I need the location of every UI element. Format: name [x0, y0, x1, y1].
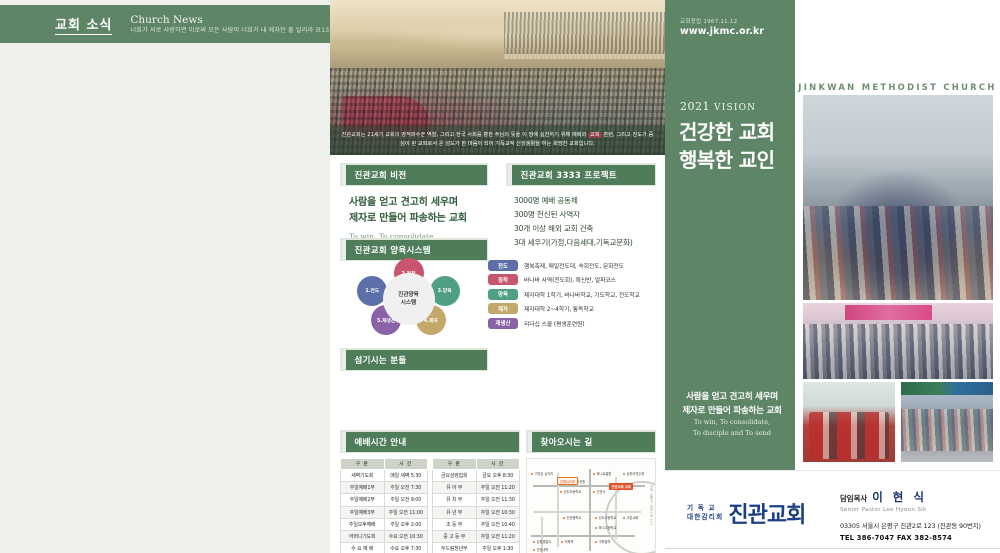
panel-slogan-korean: 사람을 얻고 견고히 세우며 제자로 만들어 파송하는 교회 — [677, 390, 787, 418]
schedule-service-time: 주일 오전 11:20 — [476, 530, 520, 542]
map-heading: 찾아오시는 길 — [528, 432, 655, 452]
serving-section: 섬기시는 분들 — [340, 348, 488, 371]
schedule-service-time: 주일 오전 11:30 — [476, 494, 520, 506]
table-row: 유 아 부주일 오전 11:20 — [433, 482, 520, 494]
schedule-col-header: 시 간 — [384, 459, 428, 470]
legend-row: 전도 행복축제, 매일전도대, 속회전도, 문화전도 — [488, 260, 660, 271]
pastor-info-block: 담임목사 이 현 식 Senior Pastor Lee Hyeon Sik 0… — [840, 489, 981, 542]
photo-outdoor-group — [901, 382, 993, 462]
table-row: 두드림청년부주일 오후 1:30 — [433, 543, 520, 553]
schedule-table-left: 구 분 시 간 새벽기도회매일 새벽 5:30주일예배1부주일 오전 7:30주… — [340, 458, 428, 553]
church-address: 03305 서울시 은평구 진관2로 123 (진관동 90번지) — [840, 521, 981, 530]
news-bible-verse: 너희가 서로 사랑하면 이로써 모든 사람이 너희가 내 제자인 줄 알리라 요… — [130, 27, 339, 35]
hero-caption-highlight: 교회 — [588, 132, 602, 138]
schedule-service-time: 주일 오후 1:30 — [476, 543, 520, 553]
legend-chip: 제자 — [488, 303, 518, 314]
hero-caption-part1: 진관교회는 21세기 교회의 영적파수꾼 역할, 그리고 한국 사회를 향한 주… — [342, 132, 587, 138]
vision-slogan-large: 건강한 교회 행복한 교인 — [679, 118, 774, 175]
church-name-logo: 진관교회 — [728, 497, 805, 529]
church-website[interactable]: www.jkmc.or.kr — [680, 26, 764, 37]
map-marker: 진관사 — [593, 489, 605, 494]
legend-row: 양육 제자대학 1학기, 바나바학교, 기도학교, 전도학교 — [488, 289, 660, 300]
project-item-list: 3000명 예배 공동체 300명 헌신된 사역자 30개 이상 해외 교회 건… — [506, 194, 656, 250]
map-marker: 진관중학교 — [563, 515, 581, 520]
pastor-name-row: 담임목사 이 현 식 — [840, 489, 981, 505]
schedule-service-name: 주일예배1부 — [341, 482, 385, 494]
map-marker: 은평경찰서 — [533, 539, 551, 544]
schedule-service-name: 두드림청년부 — [433, 543, 477, 553]
serving-heading-wrap: 섬기시는 분들 — [340, 348, 488, 371]
project-item: 30개 이상 해외 교회 건축 — [514, 222, 656, 236]
schedule-service-time: 주일 오전 10:30 — [476, 506, 520, 518]
sanctuary-hero-photo: 진관교회는 21세기 교회의 영적파수꾼 역할, 그리고 한국 사회를 향한 주… — [330, 0, 665, 155]
schedule-col-header: 구 분 — [433, 459, 477, 470]
map-marker: 하나로클럽 — [593, 471, 611, 476]
schedule-service-name: 유 치 부 — [433, 494, 477, 506]
denomination-line1: 기 독 교 — [687, 504, 723, 513]
vision-heading-wrap: 진관교회 비전 — [340, 163, 488, 186]
schedule-col-header: 구 분 — [341, 459, 385, 470]
denomination-line2: 대한감리회 — [687, 513, 723, 522]
schedule-service-name: 어머니기도회 — [341, 530, 385, 542]
legend-row: 제자 제자대학 2~4학기, 통독학교 — [488, 303, 660, 314]
vision-heading: 진관교회 비전 — [342, 165, 487, 185]
brochure-page: 교회 소식 Church News 너희가 서로 사랑하면 이로써 모든 사람이… — [0, 0, 1000, 553]
schedule-heading: 예배시간 안내 — [342, 432, 519, 452]
table-row: 주일예배3부주일 오전 11:00 — [341, 506, 428, 518]
church-english-name: JINKWAN METHODIST CHURCH — [795, 82, 1000, 92]
vision-kr-line1: 사람을 얻고 견고히 세우며 — [349, 195, 488, 211]
table-row: 주일예배1부주일 오전 7:30 — [341, 482, 428, 494]
schedule-service-time: 주일 오전 11:20 — [476, 482, 520, 494]
vision-korean-text: 사람을 얻고 견고히 세우며 제자로 만들어 파송하는 교회 — [340, 195, 488, 226]
map-church-marker: 진관교회 교회 — [609, 483, 633, 490]
legend-text: 제자대학 2~4학기, 통독학교 — [524, 304, 594, 313]
map-road — [589, 469, 591, 551]
map-marker: 연신내역 — [533, 547, 548, 552]
flower-center-label: 진관양육 시스템 — [383, 273, 435, 325]
schedule-service-name: 유 아 부 — [433, 482, 477, 494]
legend-text: 리더십 스쿨 (평생훈련원) — [524, 319, 584, 328]
directions-section: 찾아오시는 길 기자촌 삼거리 기자촌 근린공원 신도초등학교 하나로클럽 삼천… — [526, 430, 656, 553]
core-line-2: 시스템 — [401, 299, 416, 307]
map-heading-wrap: 찾아오시는 길 — [526, 430, 656, 453]
table-row: 중 고 등 부주일 오전 11:20 — [433, 530, 520, 542]
footer-church-info: 기 독 교 대한감리회 진관교회 담임목사 이 현 식 Senior Pasto… — [665, 470, 1000, 553]
schedule-service-time: 금요 오후 8:30 — [476, 470, 520, 482]
worship-schedule-section: 예배시간 안내 구 분 시 간 새벽기도회매일 새벽 5:30주일예배1부주일 … — [340, 430, 520, 553]
pastor-name: 이 현 식 — [872, 489, 927, 505]
news-title-korean: 교회 소식 — [55, 14, 112, 35]
map-marker: 구파발역 — [595, 539, 610, 544]
schedule-tables: 구 분 시 간 새벽기도회매일 새벽 5:30주일예배1부주일 오전 7:30주… — [340, 458, 520, 553]
project-item: 300명 헌신된 사역자 — [514, 208, 656, 222]
table-row: 어머니기도회수요 오전 10:30 — [341, 530, 428, 542]
schedule-service-time: 수요 오전 10:30 — [384, 530, 428, 542]
vision-green-panel: 교회창립 1967.11.12 www.jkmc.or.kr 2021 VISI… — [665, 0, 795, 470]
core-line-1: 진관양육 — [398, 291, 419, 299]
photo-family-group — [803, 95, 993, 300]
legend-chip: 정착 — [488, 274, 518, 285]
map-marker: 삼천리연수원 — [623, 471, 644, 476]
schedule-service-name: 주일예배3부 — [341, 506, 385, 518]
denomination-label: 기 독 교 대한감리회 — [687, 504, 723, 522]
serving-heading: 섬기시는 분들 — [342, 350, 487, 370]
pastor-label: 담임목사 — [840, 493, 867, 504]
panel-slogan-english: To win, To consolidate, To disciple and … — [677, 417, 787, 439]
schedule-service-name: 초 등 부 — [433, 518, 477, 530]
photo-congregation-group — [803, 303, 993, 379]
legend-text: 제자대학 1학기, 바나바학교, 기도학교, 전도학교 — [524, 290, 640, 299]
hero-balcony — [504, 12, 665, 59]
right-photo-column: JINKWAN METHODIST CHURCH — [795, 0, 1000, 470]
church-phone: TEL 386-7047 FAX 382-8574 — [840, 534, 981, 542]
map-box-marker: 은평뉴타운 — [557, 477, 578, 485]
legend-row: 재생산 리더십 스쿨 (평생훈련원) — [488, 318, 660, 329]
location-map[interactable]: 기자촌 삼거리 기자촌 근린공원 신도초등학교 하나로클럽 삼천리연수원 진관사… — [526, 458, 656, 553]
panel-slogan-en-line2: To disciple and To send — [677, 428, 787, 439]
church-logo: 기 독 교 대한감리회 진관교회 — [687, 497, 805, 529]
map-side-note: 서울 은평구 진관2로 123 — [650, 485, 654, 526]
vision-slogan-line2: 행복한 교인 — [679, 146, 774, 174]
table-row: 초 등 부주일 오전 10:40 — [433, 518, 520, 530]
panel-slogan-kr-line1: 사람을 얻고 견고히 세우며 — [677, 390, 787, 404]
schedule-service-time: 주일 오전 11:00 — [384, 506, 428, 518]
training-flower-diagram: 진관양육 시스템 1.전도 2.정착 3.양육 4.제자 5.재생산 — [336, 258, 481, 340]
photo-volunteers — [803, 382, 895, 462]
map-marker: 기자촌 삼거리 — [531, 471, 553, 476]
table-row: 새벽기도회매일 새벽 5:30 — [341, 470, 428, 482]
schedule-service-time: 주일 오전 10:40 — [476, 518, 520, 530]
schedule-service-time: 주일 오후 2:00 — [384, 518, 428, 530]
schedule-service-name: 유 년 부 — [433, 506, 477, 518]
legend-text: 행복축제, 매일전도대, 속회전도, 문화전도 — [524, 261, 624, 270]
schedule-service-name: 수 요 예 배 — [341, 543, 385, 553]
map-marker: 신도고등학교 — [595, 515, 616, 520]
vision-word: VISION — [714, 103, 756, 113]
news-title-english: Church News — [130, 14, 339, 27]
training-legend: 전도 행복축제, 매일전도대, 속회전도, 문화전도 정착 바나바 사역(전도회… — [488, 260, 660, 332]
legend-row: 정착 바나바 사역(전도회), 확신반, 알파코스 — [488, 274, 660, 285]
legend-chip: 재생산 — [488, 318, 518, 329]
center-content-column: 진관교회는 21세기 교회의 영적파수꾼 역할, 그리고 한국 사회를 향한 주… — [330, 0, 665, 553]
schedule-service-name: 새벽기도회 — [341, 470, 385, 482]
table-row: 유 치 부주일 오전 11:30 — [433, 494, 520, 506]
map-marker: 가온교회 — [623, 515, 638, 520]
schedule-heading-wrap: 예배시간 안내 — [340, 430, 520, 453]
legend-chip: 전도 — [488, 260, 518, 271]
schedule-service-time: 매일 새벽 5:30 — [384, 470, 428, 482]
schedule-col-header: 시 간 — [476, 459, 520, 470]
footer-divider — [665, 548, 1000, 549]
project-heading-wrap: 진관교회 3333 프로젝트 — [506, 163, 656, 186]
vision-year-number: 2021 — [680, 100, 710, 113]
left-news-panel: 교회 소식 Church News 너희가 서로 사랑하면 이로써 모든 사람이… — [0, 0, 330, 553]
table-row: 주일오후예배주일 오후 2:00 — [341, 518, 428, 530]
hero-caption: 진관교회는 21세기 교회의 영적파수꾼 역할, 그리고 한국 사회를 향한 주… — [330, 126, 665, 155]
pastor-name-english: Senior Pastor Lee Hyeon Sik — [840, 507, 981, 513]
training-heading: 진관교회 양육시스템 — [342, 240, 487, 260]
vision-kr-line2: 제자로 만들어 파송하는 교회 — [349, 211, 488, 227]
schedule-service-time: 수요 오후 7:30 — [384, 543, 428, 553]
church-news-banner: 교회 소식 Church News 너희가 서로 사랑하면 이로써 모든 사람이… — [0, 5, 330, 43]
table-row: 주일예배2부주일 오전 9:00 — [341, 494, 428, 506]
vision-slogan-line1: 건강한 교회 — [679, 118, 774, 146]
legend-chip: 양육 — [488, 289, 518, 300]
schedule-service-time: 주일 오전 7:30 — [384, 482, 428, 494]
table-row: 유 년 부주일 오전 10:30 — [433, 506, 520, 518]
table-row: 금요성령집회금요 오후 8:30 — [433, 470, 520, 482]
legend-text: 바나바 사역(전도회), 확신반, 알파코스 — [524, 275, 616, 284]
schedule-service-time: 주일 오전 9:00 — [384, 494, 428, 506]
map-marker: 하나고등학교 — [595, 525, 616, 530]
schedule-service-name: 주일예배2부 — [341, 494, 385, 506]
schedule-service-name: 중 고 등 부 — [433, 530, 477, 542]
map-marker: 신도초등학교 — [560, 489, 581, 494]
project-3333-section: 진관교회 3333 프로젝트 3000명 예배 공동체 300명 헌신된 사역자… — [506, 163, 656, 250]
panel-slogan-en-line1: To win, To consolidate, — [677, 417, 787, 428]
map-marker: 지축역 — [561, 539, 573, 544]
project-item: 3대 세우기(가정,다음세대,기독교문화) — [514, 236, 656, 250]
schedule-service-name: 주일오후예배 — [341, 518, 385, 530]
church-founded-date: 교회창립 1967.11.12 — [680, 17, 737, 25]
vision-year-label: 2021 VISION — [680, 100, 756, 113]
schedule-service-name: 금요성령집회 — [433, 470, 477, 482]
table-row: 수 요 예 배수요 오후 7:30 — [341, 543, 428, 553]
schedule-table-right: 구 분 시 간 금요성령집회금요 오후 8:30유 아 부주일 오전 11:20… — [432, 458, 520, 553]
project-heading: 진관교회 3333 프로젝트 — [508, 165, 655, 185]
news-title-group: Church News 너희가 서로 사랑하면 이로써 모든 사람이 너희가 내… — [130, 14, 339, 35]
project-item: 3000명 예배 공동체 — [514, 194, 656, 208]
